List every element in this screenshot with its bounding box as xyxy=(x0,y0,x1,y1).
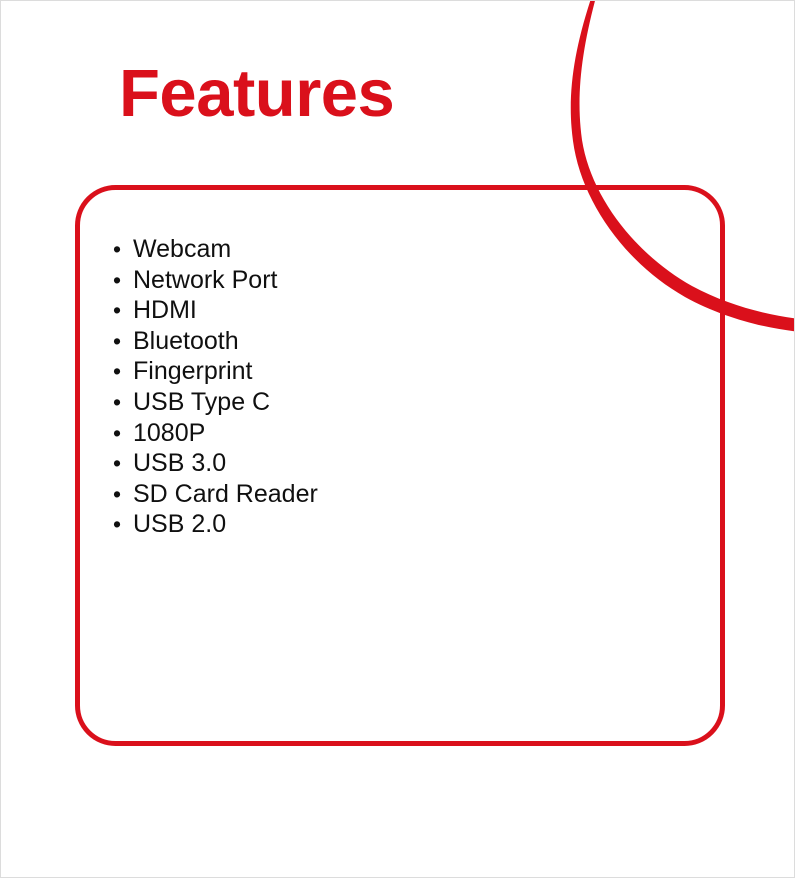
list-item-label: USB 3.0 xyxy=(133,449,226,478)
list-item-label: HDMI xyxy=(133,296,197,325)
list-item: • 1080P xyxy=(113,419,633,450)
bullet-icon: • xyxy=(113,330,133,353)
slide-canvas: Features • Webcam • Network Port • HDMI … xyxy=(0,0,795,878)
list-item-label: Bluetooth xyxy=(133,327,239,356)
list-item-label: 1080P xyxy=(133,419,205,448)
list-item-label: Fingerprint xyxy=(133,357,253,386)
list-item: • Network Port xyxy=(113,266,633,297)
list-item: • SD Card Reader xyxy=(113,480,633,511)
list-item-label: Network Port xyxy=(133,266,277,295)
list-item-label: USB Type C xyxy=(133,388,270,417)
list-item: • Webcam xyxy=(113,235,633,266)
bullet-icon: • xyxy=(113,299,133,322)
list-item-label: Webcam xyxy=(133,235,231,264)
bullet-icon: • xyxy=(113,391,133,414)
page-title: Features xyxy=(119,59,394,129)
bullet-icon: • xyxy=(113,238,133,261)
bullet-icon: • xyxy=(113,452,133,475)
bullet-icon: • xyxy=(113,269,133,292)
bullet-icon: • xyxy=(113,483,133,506)
bullet-icon: • xyxy=(113,513,133,536)
list-item: • USB 2.0 xyxy=(113,510,633,541)
list-item-label: USB 2.0 xyxy=(133,510,226,539)
bullet-icon: • xyxy=(113,422,133,445)
bullet-icon: • xyxy=(113,360,133,383)
list-item: • Bluetooth xyxy=(113,327,633,358)
list-item: • USB 3.0 xyxy=(113,449,633,480)
list-item: • USB Type C xyxy=(113,388,633,419)
list-item-label: SD Card Reader xyxy=(133,480,318,509)
features-list: • Webcam • Network Port • HDMI • Bluetoo… xyxy=(113,235,633,541)
list-item: • HDMI xyxy=(113,296,633,327)
list-item: • Fingerprint xyxy=(113,357,633,388)
